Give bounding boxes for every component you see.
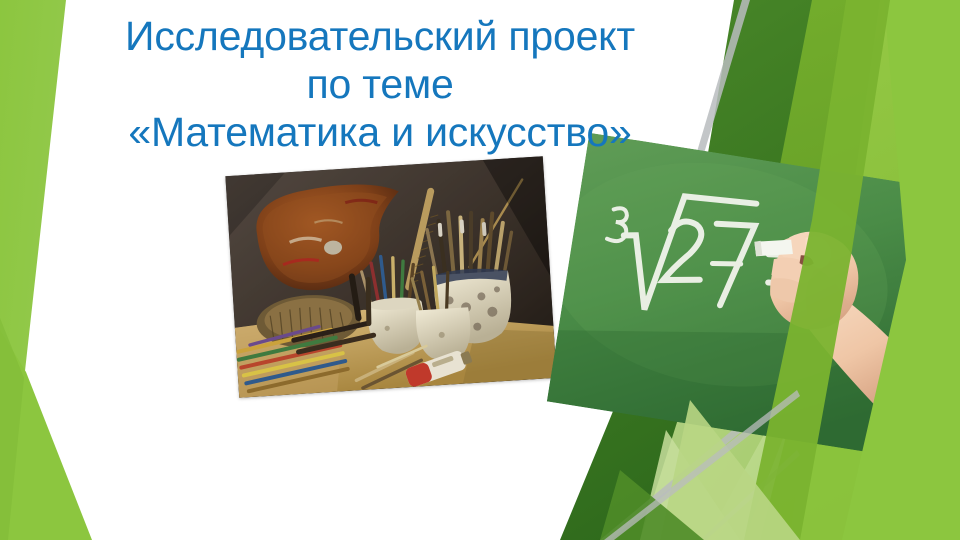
title-line-3: «Математика и искусство» (60, 108, 700, 156)
page-title: Исследовательский проект по теме «Матема… (60, 12, 700, 156)
title-line-1: Исследовательский проект (60, 12, 700, 60)
title-slide: Исследовательский проект по теме «Матема… (0, 0, 960, 540)
title-line-2: по теме (60, 60, 700, 108)
